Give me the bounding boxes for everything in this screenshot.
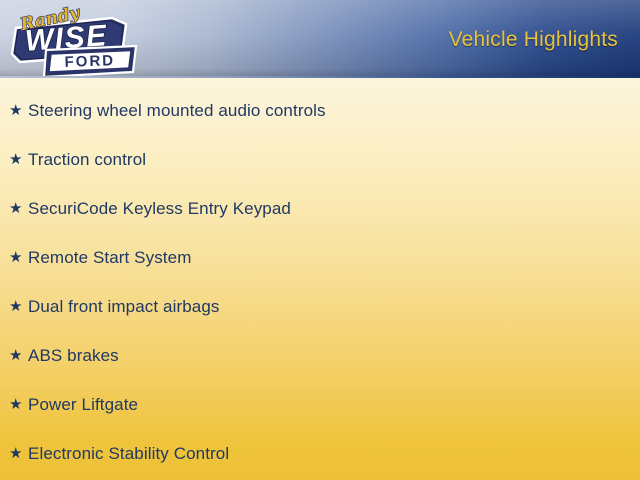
header-divider xyxy=(0,76,640,78)
list-item-label: Dual front impact airbags xyxy=(28,297,219,317)
list-item: ★ SecuriCode Keyless Entry Keypad xyxy=(0,184,640,233)
star-bullet-icon: ★ xyxy=(9,152,28,167)
list-item-label: Traction control xyxy=(28,150,146,170)
vehicle-highlights-page: WISE FORD Randy Vehicle Highlights ★ Ste… xyxy=(0,0,640,480)
star-bullet-icon: ★ xyxy=(9,397,28,412)
page-title: Vehicle Highlights xyxy=(449,28,618,52)
list-item-label: Electronic Stability Control xyxy=(28,444,229,464)
star-bullet-icon: ★ xyxy=(9,103,28,118)
vehicle-highlights-list: ★ Steering wheel mounted audio controls … xyxy=(0,86,640,478)
star-bullet-icon: ★ xyxy=(9,299,28,314)
svg-text:FORD: FORD xyxy=(64,52,115,71)
star-bullet-icon: ★ xyxy=(9,250,28,265)
list-item: ★ Traction control xyxy=(0,135,640,184)
list-item-label: SecuriCode Keyless Entry Keypad xyxy=(28,199,291,219)
list-item-label: Power Liftgate xyxy=(28,395,138,415)
list-item: ★ Power Liftgate xyxy=(0,380,640,429)
page-header: WISE FORD Randy Vehicle Highlights xyxy=(0,0,640,78)
list-item: ★ Dual front impact airbags xyxy=(0,282,640,331)
randy-wise-ford-logo: WISE FORD Randy xyxy=(4,2,146,84)
star-bullet-icon: ★ xyxy=(9,201,28,216)
list-item-label: ABS brakes xyxy=(28,346,119,366)
list-item-label: Steering wheel mounted audio controls xyxy=(28,101,326,121)
star-bullet-icon: ★ xyxy=(9,446,28,461)
list-item: ★ Steering wheel mounted audio controls xyxy=(0,86,640,135)
star-bullet-icon: ★ xyxy=(9,348,28,363)
list-item: ★ ABS brakes xyxy=(0,331,640,380)
list-item: ★ Remote Start System xyxy=(0,233,640,282)
list-item: ★ Electronic Stability Control xyxy=(0,429,640,478)
list-item-label: Remote Start System xyxy=(28,248,191,268)
